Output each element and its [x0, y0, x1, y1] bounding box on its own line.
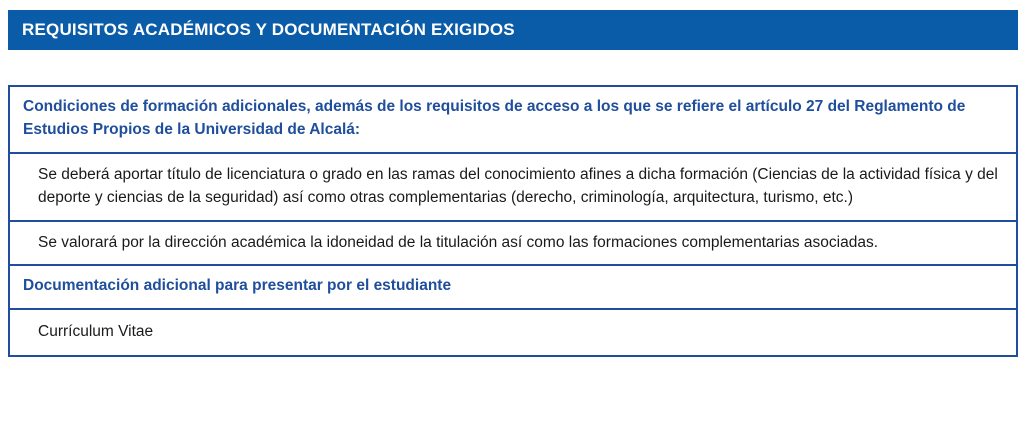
row-body-degree-requirement: Se deberá aportar título de licenciatura… [10, 154, 1016, 220]
row-heading-conditions: Condiciones de formación adicionales, ad… [10, 87, 1016, 152]
table-row: Se deberá aportar título de licenciatura… [10, 154, 1016, 222]
section-header-bar: REQUISITOS ACADÉMICOS Y DOCUMENTACIÓN EX… [8, 10, 1018, 50]
table-row: Documentación adicional para presentar p… [10, 266, 1016, 310]
requirements-table: Condiciones de formación adicionales, ad… [8, 85, 1018, 357]
table-row: Condiciones de formación adicionales, ad… [10, 87, 1016, 154]
row-body-academic-assessment: Se valorará por la dirección académica l… [10, 222, 1016, 265]
table-row: Currículum Vitae [10, 310, 1016, 355]
table-row: Se valorará por la dirección académica l… [10, 222, 1016, 267]
section-header-title: REQUISITOS ACADÉMICOS Y DOCUMENTACIÓN EX… [22, 20, 515, 40]
requirements-page: REQUISITOS ACADÉMICOS Y DOCUMENTACIÓN EX… [0, 0, 1028, 426]
row-heading-additional-documentation: Documentación adicional para presentar p… [10, 266, 1016, 308]
row-body-curriculum-vitae: Currículum Vitae [10, 310, 1016, 355]
